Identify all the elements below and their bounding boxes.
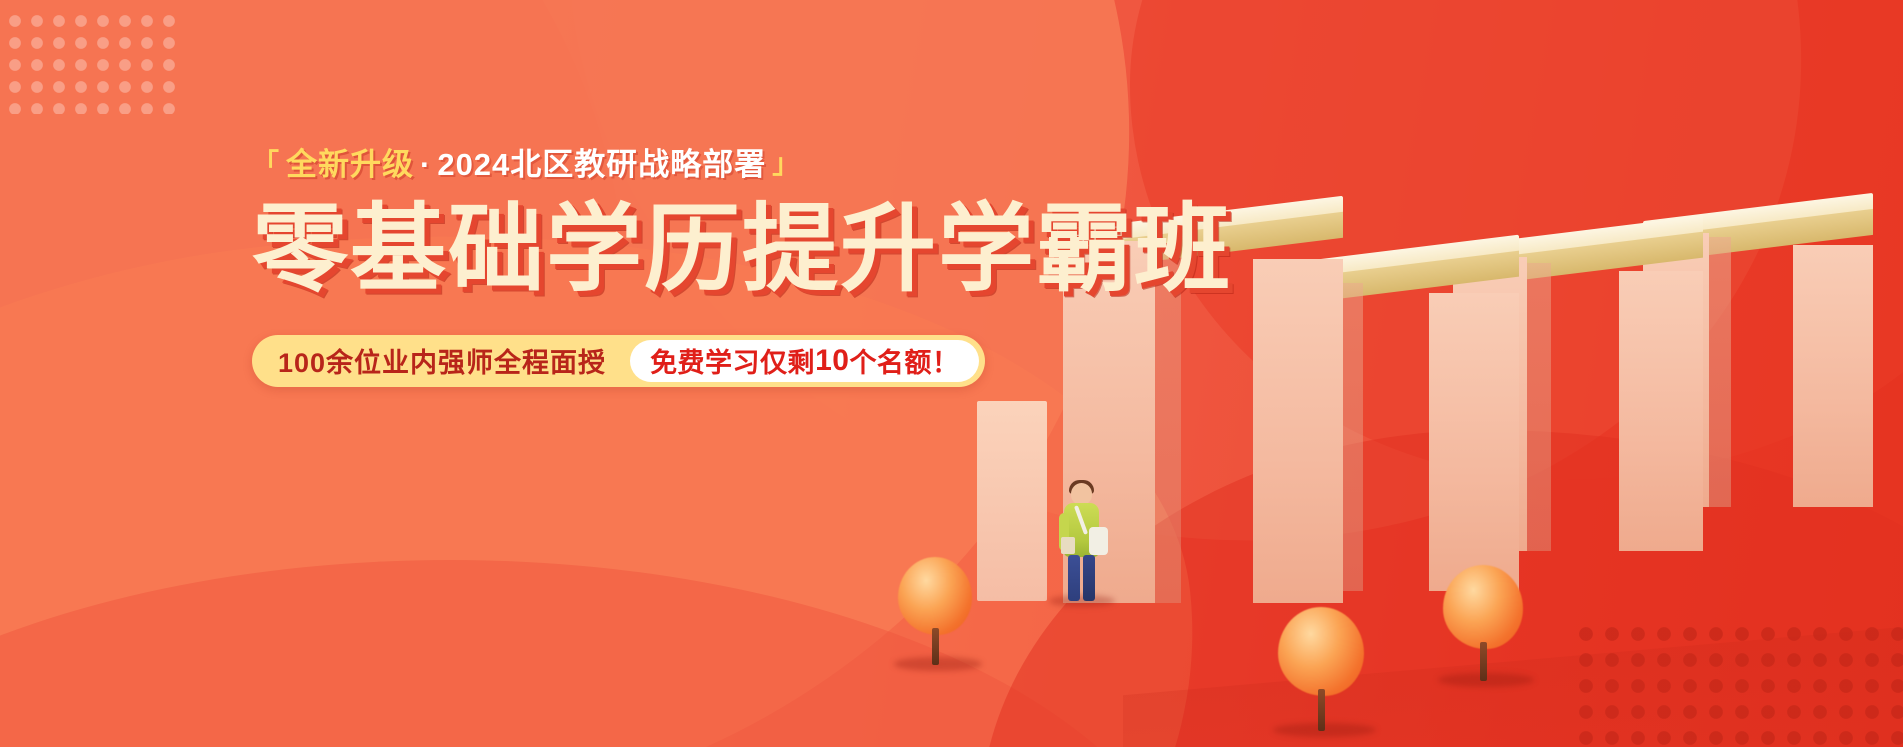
dot-pattern-top-left [0, 6, 176, 114]
figure-bag [1089, 527, 1108, 555]
book-arch-face [1793, 245, 1873, 507]
book-arch-side [1709, 237, 1731, 507]
page-title: 零基础学历提升学霸班 [252, 200, 1012, 301]
tree-trunk [1318, 689, 1325, 731]
subtitle-white-text: 2024北区教研战略部署 [437, 148, 766, 182]
tree-trunk [932, 628, 939, 665]
book-arch-face [1619, 271, 1703, 551]
offer-suffix: 个名额！ [849, 341, 959, 380]
small-pillar [977, 401, 1047, 601]
pill-left-label: 100余位业内强师全程面授 [278, 341, 630, 380]
figure-shadow [1049, 595, 1115, 607]
bracket-open-icon: 「 [252, 150, 280, 180]
promo-banner: 「 全新升级 · 2024北区教研战略部署 」 零基础学历提升学霸班 100余位… [0, 0, 1903, 747]
tree-left [898, 557, 972, 665]
offer-prefix: 免费学习仅剩 [650, 341, 815, 380]
book-arch-face [1253, 259, 1343, 603]
banner-subtitle: 「 全新升级 · 2024北区教研战略部署 」 [252, 148, 1012, 182]
tree-crown [1278, 607, 1364, 696]
banner-text-block: 「 全新升级 · 2024北区教研战略部署 」 零基础学历提升学霸班 100余位… [252, 148, 1012, 387]
tree-trunk [1480, 642, 1487, 681]
tree-crown [898, 557, 972, 635]
subtitle-gold-text: 全新升级 [286, 148, 414, 182]
bracket-close-icon: 」 [772, 150, 800, 180]
offer-count: 10 [815, 344, 849, 378]
figure-leg [1068, 555, 1080, 601]
tree-middle [1278, 607, 1364, 731]
limited-offer-badge[interactable]: 免费学习仅剩10个名额！ [630, 340, 979, 382]
feature-pill: 100余位业内强师全程面授 免费学习仅剩10个名额！ [252, 335, 985, 387]
book-arch-side [1527, 263, 1551, 551]
tree-crown [1443, 565, 1523, 649]
student-figure [1059, 483, 1105, 601]
figure-book [1061, 537, 1075, 554]
figure-head [1071, 483, 1092, 505]
book-arch-face [1429, 293, 1519, 591]
subtitle-separator: · [420, 148, 431, 182]
figure-leg [1083, 555, 1095, 601]
tree-right [1443, 565, 1523, 681]
